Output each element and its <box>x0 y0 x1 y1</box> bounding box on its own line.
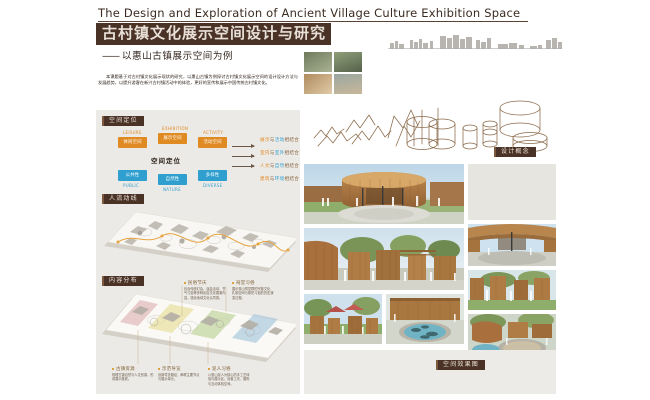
render-pergola-street-market <box>304 294 382 344</box>
title-english: The Design and Exploration of Ancient Vi… <box>98 6 528 22</box>
right-column: 设计概念 <box>304 52 556 394</box>
node-box-nature: 自然性 <box>158 174 187 185</box>
subtitle-text: 以惠山古镇展示空间为例 <box>122 51 233 62</box>
arrow-icon-2 <box>232 156 254 157</box>
reference-photo-green-roof-pavilion <box>334 52 362 72</box>
callout-title: 古镇资源 <box>112 366 156 372</box>
render-timber-screen-garden <box>468 270 556 310</box>
node-box-leisure: 休闲空间 <box>118 137 147 148</box>
circulation-plan-diagram <box>96 202 300 274</box>
callout-body: 包含传统灯会、庙会活动、节气习俗等多种民俗文化展演内容，强化地域文化认同感。 <box>184 287 228 300</box>
callout-body: 展示惠山祠堂群的宗族文化、礼制空间与祭祀习俗的历史演变过程。 <box>232 287 276 300</box>
title-chinese: 古村镇文化展示空间设计与研究 <box>96 23 331 45</box>
node-box-public: 公共性 <box>118 170 147 181</box>
positioning-center-label: 空间定位 <box>151 155 181 165</box>
node-tag-diverse: DIVERSE <box>203 183 222 188</box>
outcome-text-1: 展示与活动相结合 <box>260 137 299 143</box>
title-subtitle: ——以惠山古镇展示空间为例 <box>102 48 233 62</box>
node-tag-leisure: LEISURE <box>123 130 142 135</box>
node-tag-activity: ACTIVITY <box>203 130 223 135</box>
callout-town-resources: 古镇资源 梳理古镇自然与人文资源，形成展示基底。 <box>112 366 156 382</box>
callout-title: 示范导览 <box>158 366 202 372</box>
section-badge-positioning: 空间定位 <box>102 116 144 126</box>
reference-photo-bamboo-corridor <box>304 52 332 72</box>
outcome-text-3: 人文与自然相结合 <box>260 163 299 169</box>
callout-clay-figurine: 泥人习俗 以惠山泥人为核心的手工艺体验与展示区，设置工坊、展陈与互动体验空间。 <box>208 366 252 386</box>
abstract-paragraph: 本课题基于对古村镇文化展示现状的研究，以惠山古镇为例探讨古村镇文化展示空间的设计… <box>98 74 298 87</box>
reference-photo-waterfront-landscape <box>334 74 362 94</box>
left-column: 空间定位 LEISURE EXHIBITION ACTIVITY 休闲空间 展示… <box>96 110 300 394</box>
callout-body: 以惠山泥人为核心的手工艺体验与展示区，设置工坊、展陈与互动体验空间。 <box>208 373 252 386</box>
render-main-circular-pavilion-plaza <box>304 164 464 224</box>
footer-strip <box>304 350 556 394</box>
label-spatial-rendering: 空间效果图 <box>436 360 485 370</box>
blank-panel <box>468 164 556 220</box>
callout-title: 祠堂习俗 <box>232 280 276 286</box>
positioning-diagram: LEISURE EXHIBITION ACTIVITY 休闲空间 展示空间 活动… <box>104 130 294 192</box>
title-chinese-wrap: 古村镇文化展示空间设计与研究 <box>96 23 331 43</box>
outcome-text-2: 室内与室外相结合 <box>260 150 299 156</box>
outcome-text-4: 建筑与环境相结合 <box>260 176 299 182</box>
label-design-concept: 设计概念 <box>494 147 536 157</box>
node-tag-nature: NATURE <box>163 187 181 192</box>
node-tag-public: PUBLIC <box>123 183 139 188</box>
callout-body: 设置导览路径，串联主要节点与展示单元。 <box>158 373 202 382</box>
callout-folk-festival: 民俗节庆 包含传统灯会、庙会活动、节气习俗等多种民俗文化展演内容，强化地域文化认… <box>184 280 228 300</box>
callout-guided-tour: 示范导览 设置导览路径，串联主要节点与展示单元。 <box>158 366 202 382</box>
reference-photo-grid <box>304 52 362 94</box>
node-box-activity: 活动空间 <box>198 137 227 148</box>
callout-title: 泥人习俗 <box>208 366 252 372</box>
section-badge-content: 内容分布 <box>102 276 144 286</box>
subtitle-dash: —— <box>102 51 119 62</box>
node-tag-exhibition: EXHIBITION <box>162 126 188 131</box>
render-circular-water-feature-court <box>386 294 464 344</box>
callout-body: 梳理古镇自然与人文资源，形成展示基底。 <box>112 373 156 382</box>
city-skyline-icon <box>388 34 562 49</box>
arrow-icon-3 <box>232 166 254 167</box>
callout-ancestral-hall: 祠堂习俗 展示惠山祠堂群的宗族文化、礼制空间与祭祀习俗的历史演变过程。 <box>232 280 276 300</box>
node-box-diverse: 多样性 <box>198 170 227 181</box>
reference-photo-timber-texture <box>304 74 332 94</box>
arrow-icon-1 <box>232 146 254 147</box>
render-timber-wall-courtyard-entry <box>304 228 464 290</box>
poster-canvas: The Design and Exploration of Ancient Vi… <box>88 0 562 400</box>
render-curved-canopy-interior <box>468 224 556 266</box>
callout-title: 民俗节庆 <box>184 280 228 286</box>
node-box-exhibition: 展示空间 <box>158 133 187 144</box>
